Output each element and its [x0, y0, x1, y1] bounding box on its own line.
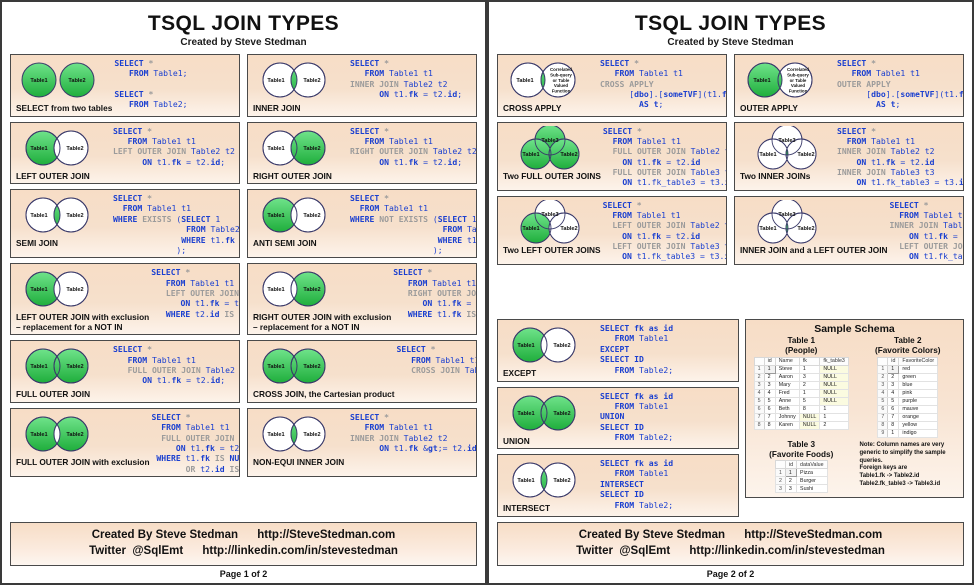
page-subtitle: Created by Steve Stedman — [497, 37, 964, 48]
table-cell[interactable]: 5 — [888, 397, 899, 405]
sql-code-right-outer-join-exclusion: SELECT * FROM Table1 t1 RIGHT OUTER JOIN… — [393, 267, 477, 319]
table-row[interactable]: 22Burger — [775, 477, 827, 485]
table-cell[interactable]: 5 — [799, 397, 820, 405]
join-panel-inner-join[interactable]: Table1Table2INNER JOINSELECT * FROM Tabl… — [247, 54, 477, 117]
table-row[interactable]: 33Mary2NULL — [754, 381, 848, 389]
table-cell[interactable]: 6 — [888, 405, 899, 413]
join-panel-non-equi-inner-join[interactable]: Table1Table2NON-EQUI INNER JOINSELECT * … — [247, 408, 477, 477]
table-cell[interactable]: NULL — [799, 413, 820, 421]
table-row[interactable]: 66mauve — [878, 405, 938, 413]
table-cell[interactable]: 8 — [764, 421, 775, 429]
table-cell[interactable]: Pizza — [797, 469, 827, 477]
table-cell[interactable]: Aaron — [775, 373, 799, 381]
join-panel-caption: CROSS APPLY — [502, 104, 598, 114]
venn-diagram: Table1Table2 — [252, 412, 348, 458]
table-cell[interactable]: 1 — [888, 429, 899, 437]
svg-text:Table1: Table1 — [267, 287, 284, 293]
venn-diagram: Table1Table2 — [502, 391, 598, 437]
join-panel-caption: CROSS JOIN, the Cartesian product — [252, 390, 395, 400]
venn-diagram: Table1CorrelatedSub-queryor TableValuedF… — [502, 58, 598, 104]
table-cell[interactable]: Johnny — [775, 413, 799, 421]
svg-text:Table2: Table2 — [66, 287, 83, 293]
table-cell[interactable]: NULL — [820, 381, 849, 389]
venn-wrap: Table1Table2ANTI SEMI JOIN — [252, 193, 348, 255]
svg-text:Table1: Table1 — [517, 478, 534, 484]
venn-wrap: Table1Table2 UNION — [502, 391, 598, 447]
table-cell[interactable]: yellow — [899, 421, 938, 429]
venn-wrap: Table1Table2SELECT from two tables — [15, 58, 112, 114]
code-wrap: SELECT * FROM Table1 t1 WHERE EXISTS (SE… — [111, 193, 240, 255]
venn-wrap: Table1Table2NON-EQUI INNER JOIN — [252, 412, 348, 474]
schema-table-favorite-colors[interactable]: idFavoriteColor11red22green33blue44pink5… — [877, 357, 938, 438]
svg-text:Table1: Table1 — [517, 411, 534, 417]
code-wrap: SELECT * FROM Table1 t1 RIGHT OUTER JOIN… — [348, 126, 477, 182]
page-2-bottom-row: Table1Table2 EXCEPTSELECT fk as id FROM … — [497, 319, 964, 517]
table-cell[interactable]: 8 — [888, 421, 899, 429]
svg-text:Table1: Table1 — [267, 364, 284, 370]
table-cell[interactable]: 7 — [888, 413, 899, 421]
table-cell[interactable]: purple — [899, 397, 938, 405]
sql-code-outer-apply: SELECT * FROM Table1 t1 OUTER APPLY [dbo… — [837, 58, 964, 110]
svg-text:Table2: Table2 — [66, 432, 83, 438]
join-panel-two-full-outer-joins[interactable]: Table3Table1Table2Two FULL OUTER JOINSSE… — [497, 122, 727, 191]
join-panel-caption: FULL OUTER JOIN with exclusion — [15, 458, 150, 468]
schema-table1-name: Table 1 — [751, 336, 852, 346]
venn-diagram: Table1Table2 — [252, 267, 348, 313]
join-panel-caption: SELECT from two tables — [15, 104, 112, 114]
column-header: id — [785, 461, 796, 469]
venn-wrap: Table1Table2 INTERSECT — [502, 458, 598, 514]
table-row[interactable]: 55purple — [878, 397, 938, 405]
sql-code-cross-apply: SELECT * FROM Table1 t1 CROSS APPLY [dbo… — [600, 58, 727, 110]
join-panel-caption-sub: – replacement for a NOT IN — [252, 323, 391, 333]
page-title: TSQL JOIN TYPES — [497, 12, 964, 36]
table-cell[interactable]: 1 — [820, 413, 849, 421]
poster-root: TSQL JOIN TYPES Created by Steve Stedman… — [0, 0, 974, 585]
join-panel-two-inner-joins[interactable]: Table3Table1Table2Two INNER JOINsSELECT … — [734, 122, 964, 191]
row-number: 1 — [878, 365, 888, 373]
sample-schema-panel: Sample Schema Table 1 (People) idNamefkf… — [745, 319, 964, 498]
svg-text:Table1: Table1 — [30, 146, 47, 152]
row-number: 2 — [754, 373, 764, 381]
table-cell[interactable]: 3 — [888, 381, 899, 389]
venn-diagram: Table1Table2 — [15, 267, 111, 313]
venn-wrap: Table3Table1Table2INNER JOIN and a LEFT … — [739, 200, 888, 262]
join-panel-full-outer-join[interactable]: Table1Table2FULL OUTER JOINSELECT * FROM… — [10, 340, 240, 403]
table-header-row: iddataValue — [775, 461, 827, 469]
schema-top-tables: Table 1 (People) idNamefkfk_table311Stev… — [751, 336, 958, 438]
table-cell[interactable]: 2 — [820, 421, 849, 429]
table-cell[interactable]: 6 — [764, 405, 775, 413]
schema-note: Note: Column names are very generic to s… — [858, 440, 959, 489]
join-panel-full-outer-join-exclusion[interactable]: Table1Table2FULL OUTER JOIN with exclusi… — [10, 408, 240, 477]
code-wrap: SELECT * FROM Table1 t1 RIGHT OUTER JOIN… — [391, 267, 477, 332]
table-row[interactable]: 22Aaron3NULL — [754, 373, 848, 381]
join-panel-caption: Two LEFT OUTER JOINS — [502, 246, 601, 256]
table-row[interactable]: 22green — [878, 373, 938, 381]
footer-line-1: Created By Steve Stedman http://SteveSte… — [11, 527, 476, 544]
schema-table3-desc: (Favorite Foods) — [751, 450, 852, 460]
row-number: 8 — [878, 421, 888, 429]
svg-text:Table2: Table2 — [797, 152, 814, 158]
svg-text:Table3: Table3 — [541, 138, 558, 144]
column-header: id — [764, 357, 775, 365]
venn-diagram: Table3Table1Table2 — [502, 200, 598, 246]
svg-text:Function: Function — [789, 89, 808, 94]
code-wrap: SELECT * FROM Table1 t1 CROSS JOIN Table… — [395, 344, 477, 400]
page-1-panel-grid: Table1Table2SELECT from two tablesSELECT… — [10, 54, 477, 517]
table-cell[interactable]: 7 — [764, 413, 775, 421]
svg-text:Table2: Table2 — [66, 213, 83, 219]
venn-wrap: Table3Table1Table2Two FULL OUTER JOINS — [502, 126, 601, 188]
venn-wrap: Table1Table2FULL OUTER JOIN with exclusi… — [15, 412, 150, 474]
venn-wrap: Table1Table2LEFT OUTER JOIN — [15, 126, 111, 182]
schema-table2-desc: (Favorite Colors) — [858, 346, 959, 356]
svg-text:Table2: Table2 — [303, 213, 320, 219]
join-panel-caption: ANTI SEMI JOIN — [252, 239, 348, 249]
code-wrap: SELECT * FROM Table1 t1 INNER JOIN Table… — [835, 126, 964, 188]
table-cell[interactable]: 3 — [764, 381, 775, 389]
table-cell[interactable]: NULL — [799, 421, 820, 429]
venn-diagram: Table1Table2 — [502, 458, 598, 504]
code-wrap: SELECT * FROM Table1 t1 INNER JOIN Table… — [348, 58, 472, 114]
venn-diagram: Table3Table1Table2 — [739, 200, 835, 246]
join-panel-caption: Two INNER JOINs — [739, 172, 835, 182]
venn-wrap: Table1Table2 EXCEPT — [502, 323, 598, 379]
table-cell[interactable]: Fred — [775, 389, 799, 397]
svg-text:Table1: Table1 — [517, 343, 534, 349]
venn-diagram: Table1Table2 — [252, 126, 348, 172]
code-wrap: SELECT * FROM Table1 t1 FULL OUTER JOIN … — [150, 412, 240, 474]
sql-code-inner-join: SELECT * FROM Table1 t1 INNER JOIN Table… — [350, 58, 462, 99]
join-panel-caption: INNER JOIN — [252, 104, 348, 114]
join-panel-caption: NON-EQUI INNER JOIN — [252, 458, 348, 468]
venn-diagram: Table3Table1Table2 — [502, 126, 598, 172]
row-number-corner — [878, 357, 888, 365]
svg-text:Table1: Table1 — [267, 78, 284, 84]
svg-text:Table1: Table1 — [522, 152, 539, 158]
svg-text:Table2: Table2 — [303, 78, 320, 84]
join-panel-caption: INNER JOIN and a LEFT OUTER JOIN — [739, 246, 888, 256]
sql-code-inner-join-and-left-outer-join: SELECT * FROM Table1 t1 INNER JOIN Table… — [890, 200, 964, 262]
sql-code-two-full-outer-joins: SELECT * FROM Table1 t1 FULL OUTER JOIN … — [603, 126, 727, 188]
column-header: fk_table3 — [820, 357, 849, 365]
table-cell[interactable]: Karen — [775, 421, 799, 429]
code-wrap: SELECT * FROM Table1; SELECT * FROM Tabl… — [112, 58, 235, 114]
join-panel-two-left-outer-joins[interactable]: Table3Table1Table2Two LEFT OUTER JOINSSE… — [497, 196, 727, 265]
table-cell[interactable]: indigo — [899, 429, 938, 437]
column-header: dataValue — [797, 461, 827, 469]
table-cell[interactable]: Mary — [775, 381, 799, 389]
code-wrap: SELECT * FROM Table1 t1 CROSS APPLY [dbo… — [598, 58, 727, 114]
svg-text:Table1: Table1 — [30, 364, 47, 370]
schema-table2-grid: idFavoriteColor11red22green33blue44pink5… — [858, 357, 959, 438]
svg-text:Table1: Table1 — [516, 78, 533, 84]
svg-text:Table3: Table3 — [778, 212, 795, 218]
venn-wrap: Table1Table2RIGHT OUTER JOIN — [252, 126, 348, 182]
code-wrap: SELECT * FROM Table1 t1 WHERE NOT EXISTS… — [348, 193, 477, 255]
svg-text:Valued: Valued — [791, 83, 805, 88]
code-wrap: SELECT * FROM Table1 t1 INNER JOIN Table… — [888, 200, 964, 262]
footer-line-2: Twitter @SqlEmt http://linkedin.com/in/s… — [498, 543, 963, 560]
svg-text:Table2: Table2 — [303, 287, 320, 293]
join-panel-cross-join[interactable]: Table1Table2CROSS JOIN, the Cartesian pr… — [247, 340, 477, 403]
table-row[interactable]: 44Fred1NULL — [754, 389, 848, 397]
svg-text:Table3: Table3 — [541, 212, 558, 218]
table-row[interactable]: 33Sushi — [775, 485, 827, 493]
join-panel-caption: SEMI JOIN — [15, 239, 111, 249]
row-number: 6 — [878, 405, 888, 413]
footer-credits-2: Created By Steve Stedman http://SteveSte… — [497, 522, 964, 566]
schema-table2-col: Table 2 (Favorite Colors) idFavoriteColo… — [858, 336, 959, 438]
schema-table3-heading: Table 3 (Favorite Foods) — [751, 440, 852, 460]
svg-text:Table1: Table1 — [30, 432, 47, 438]
table-cell[interactable]: 1 — [785, 469, 796, 477]
table-header-row: idNamefkfk_table3 — [754, 357, 848, 365]
set-operator-panels: Table1Table2 EXCEPTSELECT fk as id FROM … — [497, 319, 739, 517]
row-number: 7 — [754, 413, 764, 421]
svg-text:Table1: Table1 — [522, 226, 539, 232]
row-number: 2 — [775, 477, 785, 485]
join-panel-intersect[interactable]: Table1Table2 INTERSECTSELECT fk as id FR… — [497, 454, 739, 517]
footer-line-1: Created By Steve Stedman http://SteveSte… — [498, 527, 963, 544]
table-cell[interactable]: 2 — [764, 373, 775, 381]
join-panel-outer-apply[interactable]: Table1CorrelatedSub-queryor TableValuedF… — [734, 54, 964, 117]
venn-wrap: Table1Table2RIGHT OUTER JOIN with exclus… — [252, 267, 391, 332]
table-cell[interactable]: 2 — [888, 373, 899, 381]
join-panel-caption: RIGHT OUTER JOIN — [252, 172, 348, 182]
row-number: 8 — [754, 421, 764, 429]
table-cell[interactable]: NULL — [820, 373, 849, 381]
table-cell[interactable]: 2 — [799, 381, 820, 389]
venn-wrap: Table3Table1Table2Two INNER JOINs — [739, 126, 835, 188]
svg-text:Table1: Table1 — [30, 213, 47, 219]
svg-text:Table2: Table2 — [560, 226, 577, 232]
svg-text:Table1: Table1 — [267, 146, 284, 152]
table-cell[interactable]: Beth — [775, 405, 799, 413]
svg-text:Table2: Table2 — [303, 146, 320, 152]
join-panel-left-outer-join[interactable]: Table1Table2LEFT OUTER JOINSELECT * FROM… — [10, 122, 240, 185]
column-header: fk — [799, 357, 820, 365]
sql-code-two-left-outer-joins: SELECT * FROM Table1 t1 LEFT OUTER JOIN … — [603, 200, 727, 262]
table-cell[interactable]: 2 — [785, 477, 796, 485]
svg-text:Table1: Table1 — [759, 226, 776, 232]
table-cell[interactable]: 3 — [799, 373, 820, 381]
table-cell[interactable]: 1 — [820, 405, 849, 413]
table-cell[interactable]: 4 — [888, 389, 899, 397]
table-cell[interactable]: Anne — [775, 397, 799, 405]
join-panel-caption: UNION — [502, 437, 598, 447]
page-subtitle: Created by Steve Stedman — [10, 37, 477, 48]
table-row[interactable]: 91indigo — [878, 429, 938, 437]
table-row[interactable]: 77orange — [878, 413, 938, 421]
row-number: 5 — [754, 397, 764, 405]
table-row[interactable]: 11Steve1NULL — [754, 365, 848, 373]
table-row[interactable]: 11Pizza — [775, 469, 827, 477]
sql-code-select-two-tables: SELECT * FROM Table1; SELECT * FROM Tabl… — [114, 58, 187, 110]
table-row[interactable]: 66Beth81 — [754, 405, 848, 413]
table-cell[interactable]: 1 — [888, 365, 899, 373]
schema-table2-heading: Table 2 (Favorite Colors) — [858, 336, 959, 356]
column-header: id — [888, 357, 899, 365]
sql-code-non-equi-inner-join: SELECT * FROM Table1 t1 INNER JOIN Table… — [350, 412, 477, 453]
venn-diagram: Table1Table2 — [15, 58, 111, 104]
join-panel-select-two-tables[interactable]: Table1Table2SELECT from two tablesSELECT… — [10, 54, 240, 117]
table-cell[interactable]: Burger — [797, 477, 827, 485]
svg-text:Table1: Table1 — [753, 78, 770, 84]
row-number: 4 — [754, 389, 764, 397]
venn-diagram: Table1Table2 — [15, 344, 111, 390]
footer-line-2: Twitter @SqlEmt http://linkedin.com/in/s… — [11, 543, 476, 560]
join-panel-caption: OUTER APPLY — [739, 104, 835, 114]
join-panel-caption: FULL OUTER JOIN — [15, 390, 111, 400]
join-panel-caption: LEFT OUTER JOIN — [15, 172, 111, 182]
venn-diagram: Table1Table2 — [15, 412, 111, 458]
join-panel-caption: Two FULL OUTER JOINS — [502, 172, 601, 182]
join-panel-left-outer-join-exclusion[interactable]: Table1Table2LEFT OUTER JOIN with exclusi… — [10, 263, 240, 335]
sql-code-full-outer-join: SELECT * FROM Table1 t1 FULL OUTER JOIN … — [113, 344, 240, 385]
join-panel-cross-apply[interactable]: Table1CorrelatedSub-queryor TableValuedF… — [497, 54, 727, 117]
table-cell[interactable]: 8 — [799, 405, 820, 413]
svg-text:or Table: or Table — [790, 78, 807, 83]
code-wrap: SELECT * FROM Table1 t1 LEFT OUTER JOIN … — [149, 267, 240, 332]
code-wrap: SELECT * FROM Table1 t1 LEFT OUTER JOIN … — [601, 200, 727, 262]
sql-code-intersect: SELECT fk as id FROM Table1 INTERSECT SE… — [600, 458, 673, 510]
page-number-2: Page 2 of 2 — [497, 566, 964, 583]
row-number: 1 — [775, 469, 785, 477]
svg-text:Table1: Table1 — [267, 213, 284, 219]
join-panel-semi-join[interactable]: Table1Table2SEMI JOINSELECT * FROM Table… — [10, 189, 240, 258]
join-panel-inner-join-and-left-outer-join[interactable]: Table3Table1Table2INNER JOIN and a LEFT … — [734, 196, 964, 265]
page-2-panel-grid: Table1CorrelatedSub-queryor TableValuedF… — [497, 54, 964, 319]
code-wrap: SELECT * FROM Table1 t1 FULL OUTER JOIN … — [601, 126, 727, 188]
table-cell[interactable]: 5 — [764, 397, 775, 405]
code-wrap: SELECT * FROM Table1 t1 INNER JOIN Table… — [348, 412, 477, 474]
svg-text:Table1: Table1 — [30, 78, 47, 84]
venn-diagram: Table1Table2 — [15, 126, 111, 172]
table-cell[interactable]: 3 — [785, 485, 796, 493]
venn-diagram: Table1Table2 — [252, 344, 348, 390]
join-panel-caption: EXCEPT — [502, 369, 598, 379]
venn-wrap: Table1Table2SEMI JOIN — [15, 193, 111, 255]
code-wrap: SELECT fk as id FROM Table1 INTERSECT SE… — [598, 458, 734, 514]
svg-text:Table3: Table3 — [778, 138, 795, 144]
table-cell[interactable]: pink — [899, 389, 938, 397]
svg-text:Table2: Table2 — [66, 146, 83, 152]
page-2: TSQL JOIN TYPES Created by Steve Stedman… — [487, 0, 974, 585]
sql-code-anti-semi-join: SELECT * FROM Table1 t1 WHERE NOT EXISTS… — [350, 193, 477, 255]
venn-diagram: Table1CorrelatedSub-queryor TableValuedF… — [739, 58, 835, 104]
table-cell[interactable]: NULL — [820, 389, 849, 397]
table-row[interactable]: 11red — [878, 365, 938, 373]
table-cell[interactable]: green — [899, 373, 938, 381]
venn-wrap: Table1CorrelatedSub-queryor TableValuedF… — [739, 58, 835, 114]
table-cell[interactable]: blue — [899, 381, 938, 389]
sql-code-right-outer-join: SELECT * FROM Table1 t1 RIGHT OUTER JOIN… — [350, 126, 477, 167]
table-header-row: idFavoriteColor — [878, 357, 938, 365]
svg-text:or Table: or Table — [553, 78, 570, 83]
table-cell[interactable]: orange — [899, 413, 938, 421]
table-cell[interactable]: Steve — [775, 365, 799, 373]
join-panel-union[interactable]: Table1Table2 UNIONSELECT fk as id FROM T… — [497, 387, 739, 450]
table-cell[interactable]: NULL — [820, 397, 849, 405]
table-cell[interactable]: 1 — [799, 389, 820, 397]
row-number: 3 — [878, 381, 888, 389]
footer-credits-1: Created By Steve Stedman http://SteveSte… — [10, 522, 477, 566]
row-number: 3 — [775, 485, 785, 493]
schema-table1-heading: Table 1 (People) — [751, 336, 852, 356]
table-row[interactable]: 33blue — [878, 381, 938, 389]
table-cell[interactable]: 1 — [764, 365, 775, 373]
venn-diagram: Table3Table1Table2 — [739, 126, 835, 172]
table-cell[interactable]: Sushi — [797, 485, 827, 493]
venn-diagram: Table1Table2 — [502, 323, 598, 369]
svg-text:Correlated: Correlated — [550, 67, 572, 72]
sql-code-two-inner-joins: SELECT * FROM Table1 t1 INNER JOIN Table… — [837, 126, 964, 188]
schema-table-favorite-foods[interactable]: iddataValue11Pizza22Burger33Sushi — [775, 460, 828, 493]
svg-text:Table2: Table2 — [553, 411, 570, 417]
svg-text:Table2: Table2 — [797, 226, 814, 232]
sql-code-semi-join: SELECT * FROM Table1 t1 WHERE EXISTS (SE… — [113, 193, 240, 255]
page-number-1: Page 1 of 2 — [10, 566, 477, 583]
table-cell[interactable]: 1 — [799, 365, 820, 373]
table-cell[interactable]: red — [899, 365, 938, 373]
svg-text:Valued: Valued — [554, 83, 568, 88]
code-wrap: SELECT fk as id FROM Table1 UNION SELECT… — [598, 391, 734, 447]
schema-table3-name: Table 3 — [751, 440, 852, 450]
join-panel-right-outer-join[interactable]: Table1Table2RIGHT OUTER JOINSELECT * FRO… — [247, 122, 477, 185]
table-row[interactable]: 55Anne5NULL — [754, 397, 848, 405]
page-1: TSQL JOIN TYPES Created by Steve Stedman… — [0, 0, 487, 585]
join-panel-caption: INTERSECT — [502, 504, 598, 514]
svg-text:Table2: Table2 — [553, 343, 570, 349]
schema-table-people[interactable]: idNamefkfk_table311Steve1NULL22Aaron3NUL… — [754, 357, 849, 430]
code-wrap: SELECT * FROM Table1 t1 LEFT OUTER JOIN … — [111, 126, 235, 182]
table-row[interactable]: 88KarenNULL2 — [754, 421, 848, 429]
svg-text:Sub-query: Sub-query — [550, 72, 572, 77]
svg-text:Function: Function — [552, 89, 571, 94]
table-row[interactable]: 44pink — [878, 389, 938, 397]
venn-wrap: Table1CorrelatedSub-queryor TableValuedF… — [502, 58, 598, 114]
sql-code-left-outer-join-exclusion: SELECT * FROM Table1 t1 LEFT OUTER JOIN … — [151, 267, 240, 319]
table-cell[interactable]: 4 — [764, 389, 775, 397]
column-header: Name — [775, 357, 799, 365]
table-row[interactable]: 88yellow — [878, 421, 938, 429]
svg-text:Table2: Table2 — [553, 478, 570, 484]
row-number: 9 — [878, 429, 888, 437]
schema-table3-grid: iddataValue11Pizza22Burger33Sushi — [751, 460, 852, 493]
svg-text:Table1: Table1 — [759, 152, 776, 158]
page-title: TSQL JOIN TYPES — [10, 12, 477, 36]
table-cell[interactable]: mauve — [899, 405, 938, 413]
column-header: FavoriteColor — [899, 357, 938, 365]
schema-table3-col: Table 3 (Favorite Foods) iddataValue11Pi… — [751, 440, 852, 494]
row-number: 4 — [878, 389, 888, 397]
venn-wrap: Table3Table1Table2Two LEFT OUTER JOINS — [502, 200, 601, 262]
sql-code-full-outer-join-exclusion: SELECT * FROM Table1 t1 FULL OUTER JOIN … — [152, 412, 240, 474]
table-cell[interactable]: NULL — [820, 365, 849, 373]
join-panel-right-outer-join-exclusion[interactable]: Table1Table2RIGHT OUTER JOIN with exclus… — [247, 263, 477, 335]
venn-diagram: Table1Table2 — [252, 58, 348, 104]
schema-table2-name: Table 2 — [858, 336, 959, 346]
table-row[interactable]: 77JohnnyNULL1 — [754, 413, 848, 421]
row-number: 5 — [878, 397, 888, 405]
venn-wrap: Table1Table2INNER JOIN — [252, 58, 348, 114]
join-panel-anti-semi-join[interactable]: Table1Table2ANTI SEMI JOINSELECT * FROM … — [247, 189, 477, 258]
row-number-corner — [775, 461, 785, 469]
join-panel-except[interactable]: Table1Table2 EXCEPTSELECT fk as id FROM … — [497, 319, 739, 382]
schema-bottom-row: Table 3 (Favorite Foods) iddataValue11Pi… — [751, 440, 958, 494]
